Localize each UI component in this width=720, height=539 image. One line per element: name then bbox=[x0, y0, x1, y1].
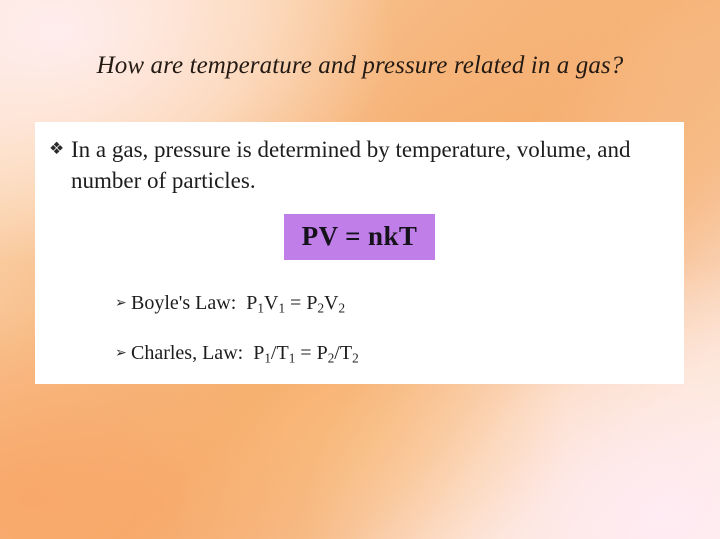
slide-canvas: How are temperature and pressure related… bbox=[0, 0, 720, 539]
gas-law-formula: PV = nkT bbox=[284, 214, 436, 260]
slide-title: How are temperature and pressure related… bbox=[0, 50, 720, 82]
charles-law-equation: P1/T1 = P2/T2 bbox=[253, 340, 358, 372]
diamond-cluster-bullet-icon: ❖ bbox=[49, 134, 71, 165]
main-bullet-item: ❖ In a gas, pressure is determined by te… bbox=[49, 134, 671, 196]
boyles-law-label: Boyle's Law: bbox=[131, 290, 236, 316]
arrowhead-bullet-icon: ➢ bbox=[115, 290, 131, 316]
sub-bullet-item-charles-law: ➢ Charles, Law: P1/T1 = P2/T2 bbox=[115, 340, 635, 372]
sub-bullet-item-boyles-law: ➢ Boyle's Law: P1V1 = P2V2 bbox=[115, 290, 635, 322]
main-bullet-text: In a gas, pressure is determined by temp… bbox=[71, 134, 671, 196]
arrowhead-bullet-icon: ➢ bbox=[115, 340, 131, 366]
content-panel: ❖ In a gas, pressure is determined by te… bbox=[35, 122, 684, 384]
boyles-law-equation: P1V1 = P2V2 bbox=[246, 290, 345, 322]
charles-law-label: Charles, Law: bbox=[131, 340, 243, 366]
formula-container: PV = nkT bbox=[35, 214, 684, 260]
